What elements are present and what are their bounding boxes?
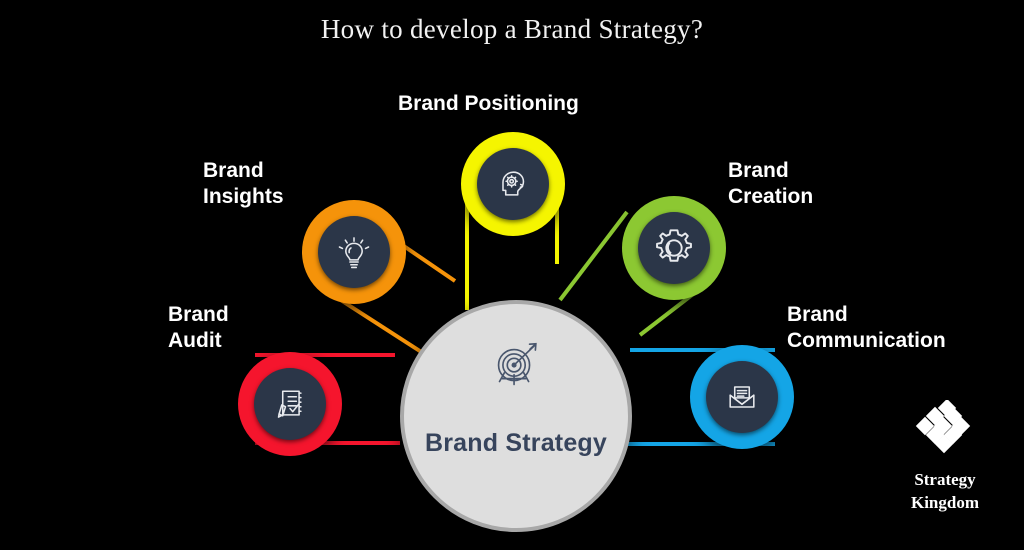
node-brand-creation[interactable] xyxy=(622,196,726,300)
node-brand-audit-inner xyxy=(254,368,326,440)
node-brand-communication-inner xyxy=(706,361,778,433)
node-brand-insights[interactable] xyxy=(302,200,406,304)
brand-logo-text: Strategy Kingdom xyxy=(880,469,1010,515)
envelope-mail-icon xyxy=(722,377,762,417)
diagram-canvas: How to develop a Brand Strategy? xyxy=(0,0,1024,550)
diamond-checkerboard-icon xyxy=(880,400,1010,461)
page-title: How to develop a Brand Strategy? xyxy=(0,14,1024,45)
gear-icon xyxy=(651,225,697,271)
label-brand-communication: Brand Communication xyxy=(787,302,946,355)
node-brand-positioning-inner xyxy=(477,148,549,220)
connector-brand-creation-upper xyxy=(560,212,627,300)
target-arrow-icon xyxy=(485,336,547,403)
head-gear-icon xyxy=(493,164,533,204)
node-brand-insights-inner xyxy=(318,216,390,288)
clipboard-checklist-pencil-icon xyxy=(270,384,310,424)
hub-brand-strategy[interactable]: Brand Strategy xyxy=(400,300,632,532)
brand-logo: Strategy Kingdom xyxy=(880,400,1010,515)
node-brand-communication[interactable] xyxy=(690,345,794,449)
node-brand-positioning[interactable] xyxy=(461,132,565,236)
label-brand-insights: Brand Insights xyxy=(203,158,284,211)
label-brand-audit: Brand Audit xyxy=(168,302,229,355)
hub-label: Brand Strategy xyxy=(425,429,607,458)
lightbulb-icon xyxy=(334,232,374,272)
node-brand-audit[interactable] xyxy=(238,352,342,456)
label-brand-positioning: Brand Positioning xyxy=(398,91,579,117)
label-brand-creation: Brand Creation xyxy=(728,158,813,211)
node-brand-creation-inner xyxy=(638,212,710,284)
